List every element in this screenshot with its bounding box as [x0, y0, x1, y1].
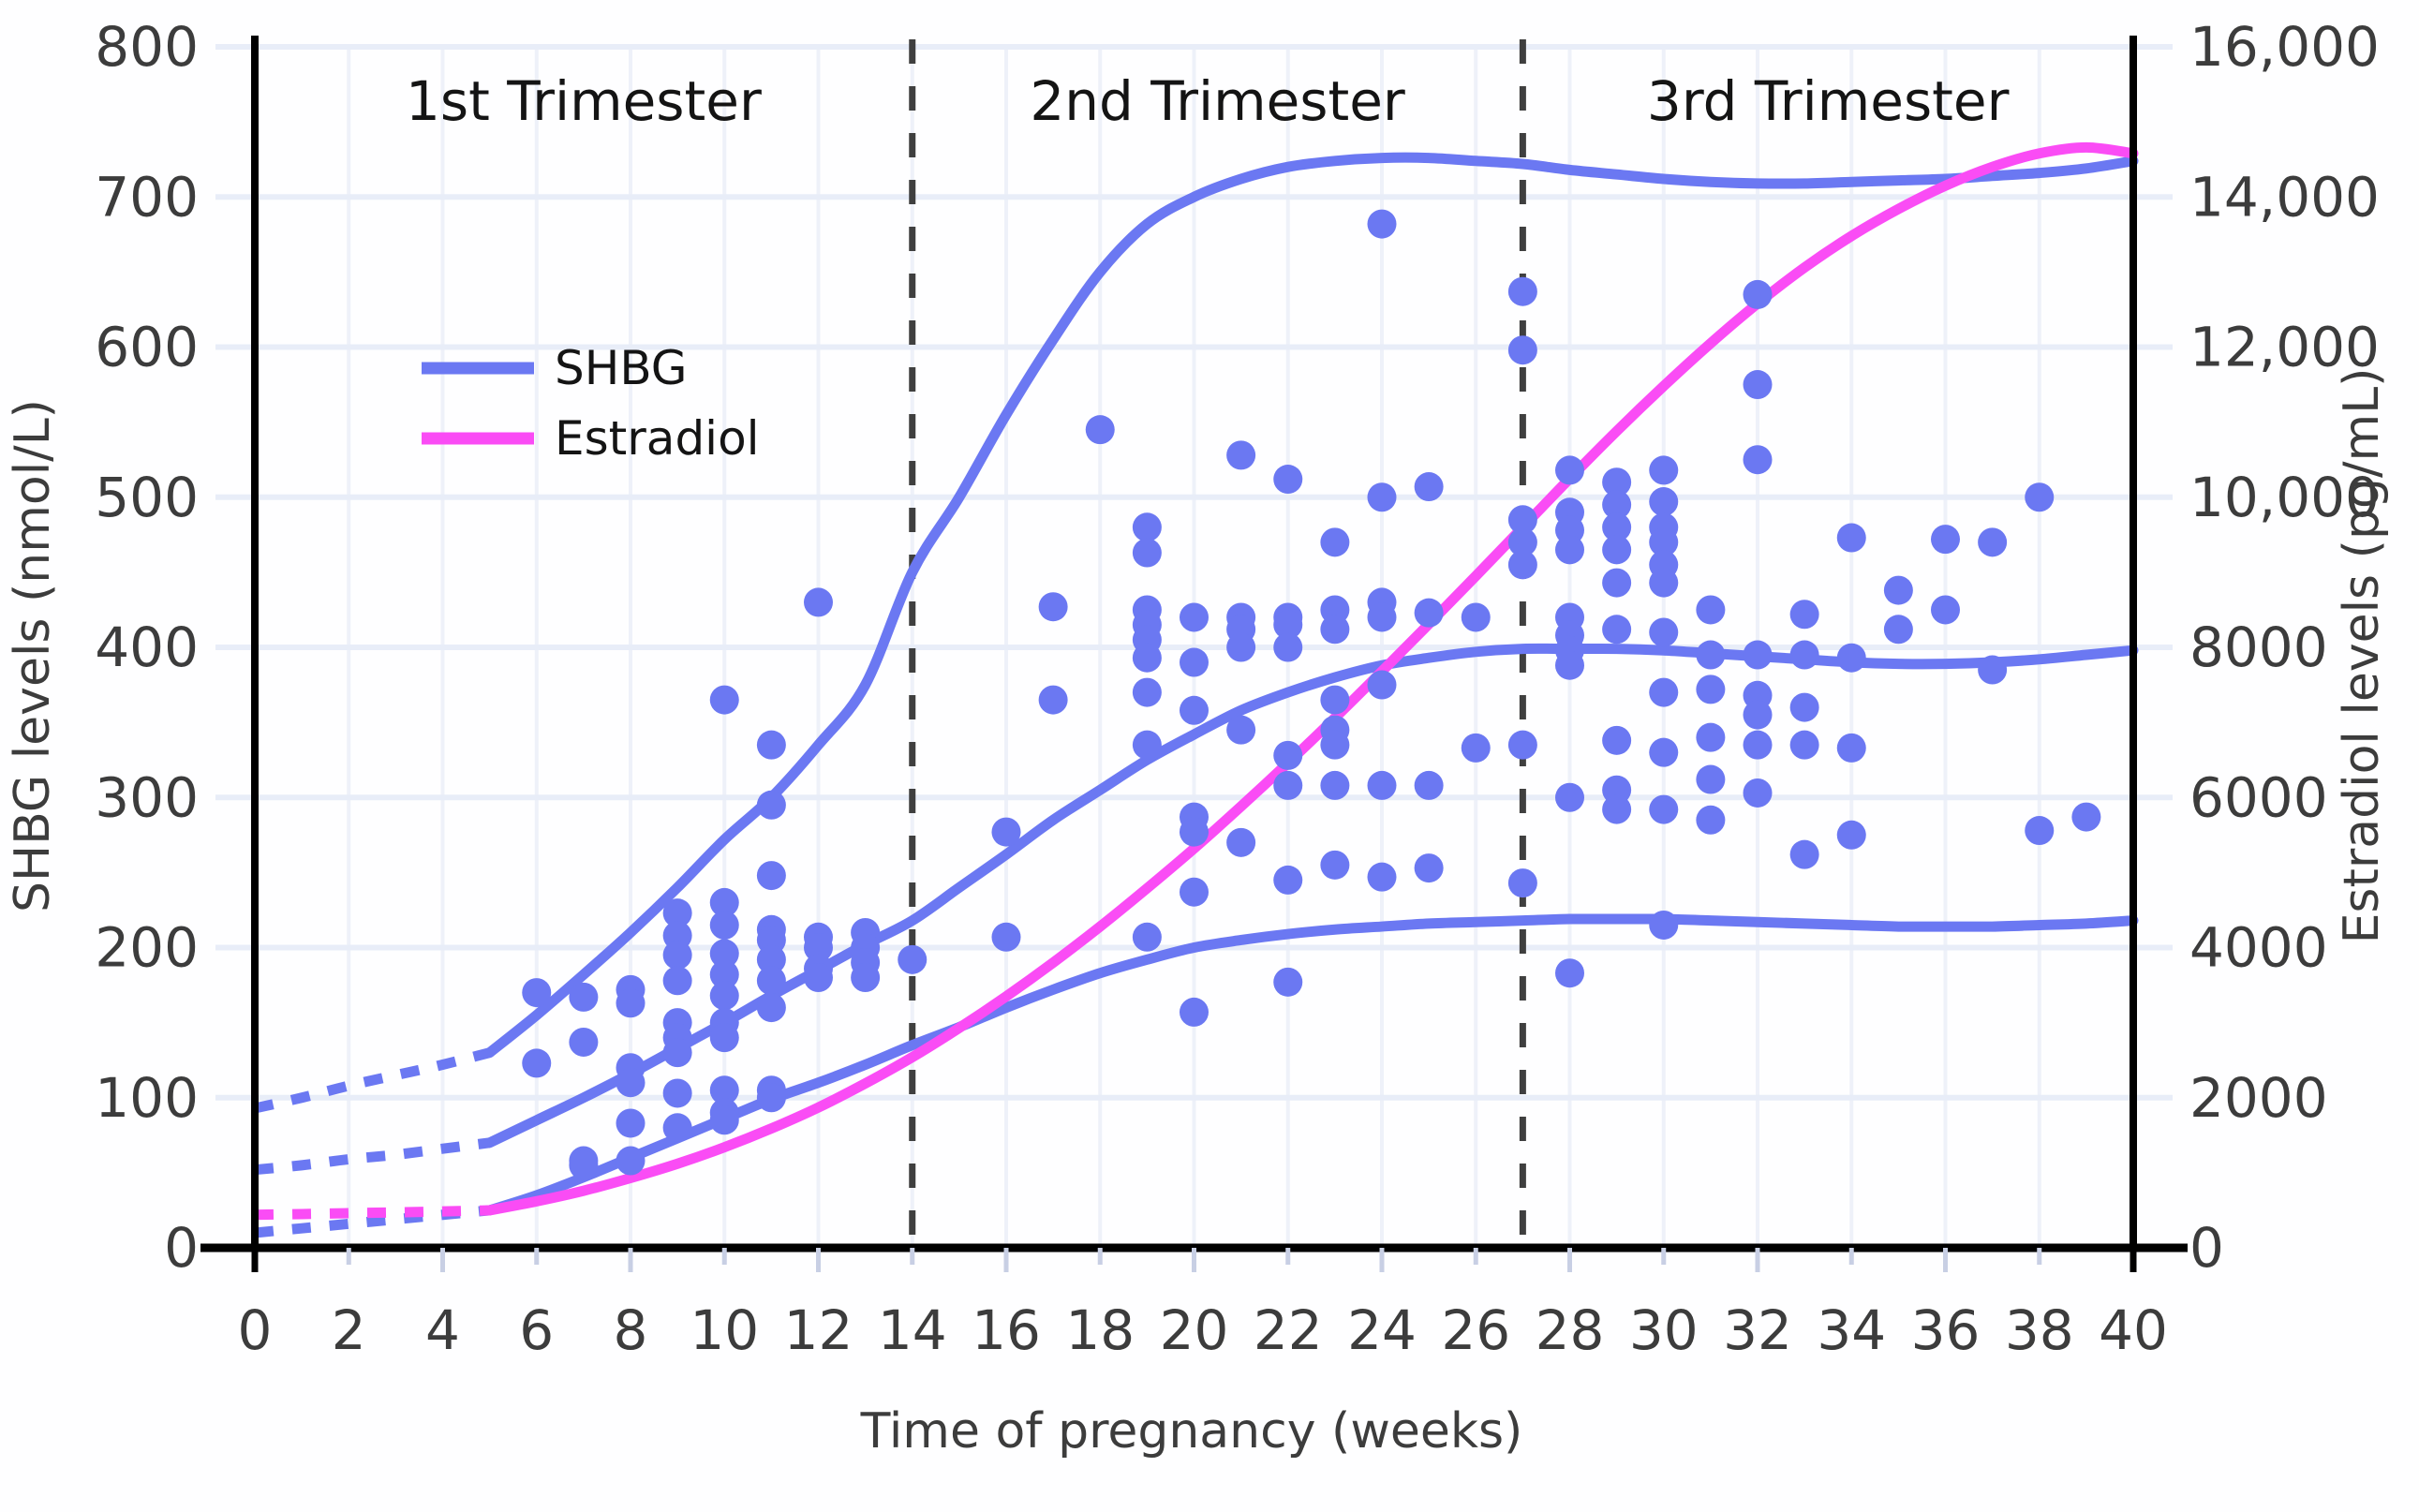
scatter-point — [616, 1068, 646, 1097]
scatter-point — [1368, 482, 1397, 511]
scatter-point — [1744, 370, 1773, 399]
scatter-point — [1602, 615, 1631, 644]
scatter-point — [663, 1038, 692, 1067]
scatter-point — [1602, 726, 1631, 755]
scatter-point — [1508, 868, 1537, 897]
right-axis-title: Estradiol levels (pg/mL) — [2334, 368, 2390, 944]
scatter-point — [757, 791, 786, 820]
scatter-point — [1039, 686, 1068, 715]
scatter-point — [1180, 878, 1209, 907]
scatter-point — [1931, 525, 1960, 554]
scatter-point — [1226, 633, 1255, 662]
scatter-point — [1226, 716, 1255, 745]
scatter-point — [1508, 550, 1537, 579]
scatter-point — [1790, 600, 1819, 629]
scatter-point — [1320, 527, 1349, 556]
scatter-point — [1884, 576, 1913, 605]
chart-container: 0246810121416182022242628303234363840 01… — [0, 0, 2419, 1512]
scatter-point — [1273, 465, 1302, 494]
scatter-point — [1086, 415, 1115, 444]
scatter-point — [663, 941, 692, 970]
scatter-point — [1555, 535, 1584, 564]
scatter-point — [1744, 701, 1773, 730]
scatter-point — [569, 1150, 598, 1179]
x-axis-title: Time of pregnancy (weeks) — [860, 1403, 1523, 1460]
scatter-point — [1696, 723, 1725, 752]
scatter-point — [522, 978, 551, 1007]
scatter-point — [1133, 731, 1162, 760]
scatter-point — [1180, 602, 1209, 631]
y-tick-label: 300 — [95, 765, 199, 829]
x-tick-label: 32 — [1723, 1298, 1792, 1362]
scatter-point — [663, 966, 692, 995]
scatter-point — [1368, 210, 1397, 239]
scatter-point — [1790, 731, 1819, 760]
scatter-point — [992, 818, 1021, 847]
scatter-point — [1320, 731, 1349, 760]
x-tick-label: 30 — [1629, 1298, 1699, 1362]
right-tick-label: 2000 — [2189, 1066, 2328, 1130]
scatter-point — [1790, 840, 1819, 869]
scatter-point — [1649, 455, 1678, 484]
scatter-point — [1555, 958, 1584, 987]
x-tick-label: 12 — [784, 1298, 853, 1362]
scatter-point — [757, 731, 786, 760]
scatter-point — [1320, 851, 1349, 880]
scatter-point — [1180, 696, 1209, 725]
right-tick-label: 4000 — [2189, 916, 2328, 980]
scatter-point — [1649, 678, 1678, 707]
right-tick-label: 6000 — [2189, 765, 2328, 829]
scatter-point — [1415, 599, 1444, 628]
scatter-point — [522, 1048, 551, 1077]
scatter-point — [2071, 803, 2100, 832]
scatter-point — [1180, 818, 1209, 847]
scatter-point — [804, 587, 833, 616]
scatter-point — [1320, 771, 1349, 800]
scatter-point — [1649, 795, 1678, 824]
right-tick-label: 14,000 — [2189, 165, 2380, 229]
scatter-point — [1649, 487, 1678, 516]
scatter-point — [757, 861, 786, 890]
y-axis-title: SHBG levels (nmol/L) — [5, 399, 61, 912]
x-tick-label: 26 — [1441, 1298, 1510, 1362]
scatter-point — [1273, 968, 1302, 997]
right-tick-label: 8000 — [2189, 615, 2328, 679]
trimester-label: 1st Trimester — [406, 69, 762, 133]
scatter-point — [710, 1105, 739, 1134]
scatter-point — [757, 1083, 786, 1112]
x-axis-tick-labels: 0246810121416182022242628303234363840 — [238, 1298, 2168, 1362]
scatter-point — [1696, 806, 1725, 835]
y-tick-label: 500 — [95, 466, 199, 529]
scatter-point — [1320, 686, 1349, 715]
scatter-point — [1133, 923, 1162, 952]
scatter-point — [804, 963, 833, 992]
scatter-point — [1415, 853, 1444, 882]
scatter-point — [1273, 741, 1302, 770]
scatter-point — [992, 923, 1021, 952]
scatter-point — [1837, 644, 1866, 673]
y-tick-label: 600 — [95, 316, 199, 379]
scatter-point — [1555, 783, 1584, 812]
scatter-point — [1133, 678, 1162, 707]
scatter-point — [616, 1147, 646, 1176]
scatter-point — [1602, 569, 1631, 598]
scatter-point — [2025, 816, 2054, 845]
y-tick-label: 100 — [95, 1066, 199, 1130]
y-tick-label: 400 — [95, 615, 199, 679]
x-tick-label: 34 — [1817, 1298, 1886, 1362]
scatter-point — [1649, 569, 1678, 598]
x-tick-label: 24 — [1347, 1298, 1417, 1362]
scatter-point — [1744, 280, 1773, 309]
scatter-point — [710, 981, 739, 1010]
scatter-point — [569, 983, 598, 1012]
trimester-annotations: 1st Trimester2nd Trimester3rd Trimester — [406, 69, 2010, 133]
scatter-point — [1415, 771, 1444, 800]
scatter-point — [851, 963, 880, 992]
scatter-point — [1368, 602, 1397, 631]
scatter-point — [1368, 863, 1397, 892]
trimester-label: 3rd Trimester — [1647, 69, 2010, 133]
scatter-point — [710, 1023, 739, 1052]
scatter-point — [616, 1108, 646, 1137]
scatter-point — [1602, 795, 1631, 824]
scatter-point — [1368, 771, 1397, 800]
x-tick-label: 40 — [2099, 1298, 2168, 1362]
scatter-point — [1884, 615, 1913, 644]
y-tick-label: 200 — [95, 916, 199, 980]
x-tick-label: 36 — [1911, 1298, 1981, 1362]
x-tick-label: 0 — [238, 1298, 273, 1362]
scatter-point — [1790, 641, 1819, 670]
x-tick-label: 8 — [614, 1298, 648, 1362]
x-tick-label: 28 — [1536, 1298, 1605, 1362]
scatter-point — [1744, 731, 1773, 760]
scatter-point — [1744, 778, 1773, 808]
scatter-point — [1462, 734, 1491, 763]
scatter-point — [1508, 277, 1537, 306]
scatter-point — [569, 1028, 598, 1057]
scatter-point — [1462, 602, 1491, 631]
scatter-point — [1649, 738, 1678, 767]
scatter-point — [616, 988, 646, 1017]
x-tick-label: 6 — [519, 1298, 554, 1362]
scatter-point — [1978, 527, 2007, 556]
scatter-point — [1555, 455, 1584, 484]
x-tick-label: 38 — [2005, 1298, 2074, 1362]
scatter-point — [710, 686, 739, 715]
scatter-point — [663, 1113, 692, 1142]
y-tick-label: 0 — [164, 1216, 199, 1280]
x-tick-label: 16 — [972, 1298, 1041, 1362]
scatter-point — [1555, 651, 1584, 680]
scatter-point — [1978, 656, 2007, 685]
scatter-point — [1133, 512, 1162, 541]
scatter-point — [1133, 644, 1162, 673]
scatter-point — [898, 945, 927, 974]
scatter-point — [1508, 731, 1537, 760]
x-tick-label: 20 — [1160, 1298, 1229, 1362]
scatter-point — [1133, 539, 1162, 568]
scatter-point — [1273, 866, 1302, 895]
scatter-point — [1180, 648, 1209, 677]
x-tick-label: 14 — [878, 1298, 947, 1362]
x-tick-label: 22 — [1254, 1298, 1323, 1362]
scatter-point — [1039, 592, 1068, 621]
scatter-point — [1226, 440, 1255, 469]
scatter-point — [1508, 335, 1537, 364]
scatter-point — [1415, 472, 1444, 501]
scatter-point — [710, 911, 739, 940]
legend-label-estradiol: Estradiol — [555, 411, 760, 466]
scatter-point — [1273, 771, 1302, 800]
scatter-point — [1226, 828, 1255, 857]
scatter-point — [1790, 693, 1819, 722]
scatter-point — [1931, 595, 1960, 624]
scatter-point — [1837, 821, 1866, 850]
scatter-point — [1602, 535, 1631, 564]
x-tick-label: 18 — [1065, 1298, 1135, 1362]
scatter-point — [1696, 674, 1725, 704]
scatter-point — [1744, 445, 1773, 474]
x-tick-label: 2 — [332, 1298, 366, 1362]
scatter-point — [2025, 482, 2054, 511]
scatter-point — [1744, 641, 1773, 670]
right-tick-label: 16,000 — [2189, 15, 2380, 79]
scatter-point — [1273, 633, 1302, 662]
x-tick-label: 10 — [690, 1298, 759, 1362]
scatter-point — [1696, 765, 1725, 794]
scatter-point — [663, 1078, 692, 1107]
right-tick-label: 0 — [2189, 1216, 2224, 1280]
trimester-label: 2nd Trimester — [1030, 69, 1405, 133]
scatter-point — [757, 966, 786, 995]
y-tick-label: 800 — [95, 15, 199, 79]
legend-label-shbg: SHBG — [555, 341, 688, 395]
scatter-point — [757, 993, 786, 1022]
x-tick-label: 4 — [425, 1298, 460, 1362]
y-tick-label: 700 — [95, 165, 199, 229]
shbg-estradiol-pregnancy-chart: 0246810121416182022242628303234363840 01… — [0, 0, 2419, 1512]
scatter-point — [1320, 615, 1349, 644]
scatter-point — [1696, 641, 1725, 670]
scatter-point — [1837, 524, 1866, 553]
scatter-point — [1368, 671, 1397, 700]
scatter-point — [1696, 595, 1725, 624]
scatter-point — [1837, 734, 1866, 763]
scatter-point — [1649, 617, 1678, 646]
scatter-point — [1649, 911, 1678, 940]
chart-background — [0, 0, 2419, 1512]
scatter-point — [1180, 998, 1209, 1027]
y-axis-tick-labels: 0100200300400500600700800 — [95, 15, 199, 1280]
